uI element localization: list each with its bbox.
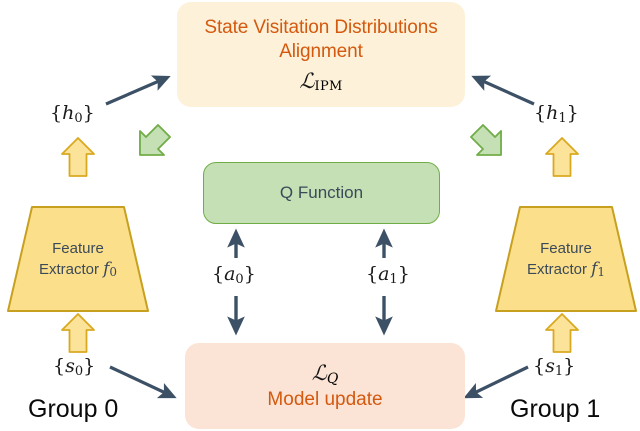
trapezoid-shape-left [6,205,150,315]
label-h1: {h1} [534,102,579,126]
a0-close: } [244,263,256,285]
s0-close: } [83,355,95,377]
model-update-label: Model update [267,389,382,411]
a0-symbol: a [224,263,235,285]
a1-symbol: a [378,263,389,285]
h1-sub: 1 [558,111,566,126]
q-function-label: Q Function [280,183,363,203]
h0-close: } [83,102,95,124]
label-a1: {a1} [366,263,410,287]
arrow-h1-to-ipm [476,78,534,104]
q-loss-label: ℒQ [312,361,339,387]
arrow-s1-to-loss-q [468,367,528,396]
ipm-loss-label: ℒIPM [299,69,342,94]
h0-open: { [50,102,62,124]
ipm-loss-subscript: IPM [315,79,343,94]
ipm-loss-symbol: ℒ [299,69,314,93]
h1-close: } [567,102,579,124]
feature-extractor-0: Feature Extractor f0 [6,205,150,315]
model-update-box: ℒQ Model update [185,343,465,429]
s0-symbol: s [65,355,75,377]
q-loss-subscript: Q [327,371,338,387]
group-0-label: Group 0 [28,395,118,424]
arrow-s0-to-loss-q [110,367,172,396]
top-box-title-line2: Alignment [279,40,363,64]
h1-open: { [534,102,546,124]
s1-open: { [533,355,545,377]
trapezoid-shape-right [494,205,638,315]
a0-open: { [212,263,224,285]
arrow-extractor0-to-h0 [62,138,94,176]
label-s0: {s0} [53,355,95,379]
arrow-ipm-feedback-right [465,119,513,167]
group-1-label: Group 1 [510,395,600,424]
s1-close: } [563,355,575,377]
s0-open: { [53,355,65,377]
state-visitation-alignment-box: State Visitation Distributions Alignment… [177,2,465,107]
a1-close: } [398,263,410,285]
feature-extractor-1: Feature Extractor f1 [494,205,638,315]
top-box-title-line1: State Visitation Distributions [204,16,437,40]
s0-sub: 0 [75,364,83,379]
h0-sub: 0 [74,111,82,126]
label-h0: {h0} [50,102,95,126]
q-function-box: Q Function [203,162,440,224]
diagram-canvas: State Visitation Distributions Alignment… [0,0,640,431]
arrow-s0-to-extractor [62,314,94,352]
label-a0: {a0} [212,263,256,287]
arrow-ipm-feedback-left [128,119,176,167]
a0-sub: 0 [235,272,243,287]
a1-sub: 1 [389,272,397,287]
arrow-h0-to-ipm [106,78,166,104]
a1-open: { [366,263,378,285]
q-loss-symbol: ℒ [312,361,327,385]
arrow-s1-to-extractor [546,314,578,352]
s1-sub: 1 [555,364,563,379]
s1-symbol: s [545,355,555,377]
arrow-extractor1-to-h1 [546,138,578,176]
h0-symbol: h [62,102,74,124]
h1-symbol: h [546,102,558,124]
label-s1: {s1} [533,355,575,379]
